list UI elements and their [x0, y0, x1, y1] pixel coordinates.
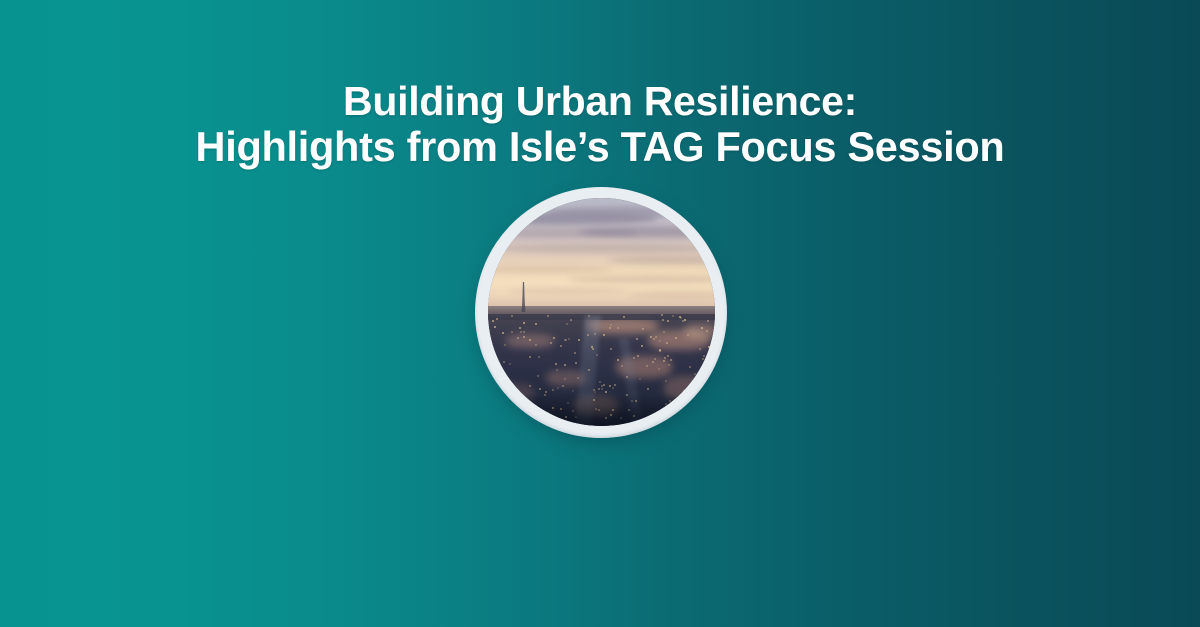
- street-light: [547, 315, 549, 317]
- street-light: [617, 327, 619, 329]
- street-light: [509, 401, 511, 403]
- street-light: [626, 376, 628, 378]
- street-light: [498, 409, 500, 411]
- street-light: [605, 391, 607, 393]
- street-light: [665, 403, 667, 405]
- street-light: [701, 327, 703, 329]
- street-light: [642, 328, 644, 330]
- street-light: [662, 319, 664, 321]
- street-light: [612, 387, 614, 389]
- street-light: [587, 334, 589, 336]
- street-light: [494, 376, 496, 378]
- street-light: [610, 348, 612, 350]
- street-light: [639, 378, 641, 380]
- street-light: [664, 357, 666, 359]
- street-light: [599, 381, 601, 383]
- street-light: [572, 410, 574, 412]
- street-light: [682, 320, 684, 322]
- street-light: [596, 354, 598, 356]
- street-light: [537, 375, 539, 377]
- street-light: [636, 338, 638, 340]
- street-light: [650, 336, 652, 338]
- street-light: [658, 368, 660, 370]
- street-light: [593, 399, 595, 401]
- street-light: [702, 358, 704, 360]
- street-light: [550, 342, 552, 344]
- street-light: [610, 414, 612, 416]
- street-light: [694, 382, 696, 384]
- share-card: Building Urban Resilience: Highlights fr…: [0, 0, 1200, 627]
- street-light: [594, 391, 596, 393]
- street-light: [667, 320, 669, 322]
- featured-image-photo: [488, 198, 715, 426]
- street-light: [693, 414, 695, 416]
- street-light: [666, 342, 668, 344]
- street-light: [552, 407, 554, 409]
- street-light: [529, 385, 531, 387]
- street-light: [696, 393, 698, 395]
- cloud-band: [498, 244, 715, 253]
- title-line-2: Highlights from Isle’s TAG Focus Session: [0, 124, 1200, 170]
- street-light: [661, 314, 663, 316]
- street-light: [689, 366, 691, 368]
- street-light: [566, 323, 568, 325]
- street-light: [592, 348, 594, 350]
- street-light: [552, 389, 554, 391]
- street-light: [588, 369, 590, 371]
- street-light: [511, 331, 513, 333]
- street-light: [492, 371, 494, 373]
- street-light: [703, 355, 705, 357]
- street-light: [502, 380, 504, 382]
- street-light: [578, 339, 580, 341]
- street-light: [512, 410, 514, 412]
- street-light: [568, 338, 570, 340]
- street-light: [501, 393, 503, 395]
- street-light: [620, 417, 622, 419]
- street-light: [535, 344, 537, 346]
- street-light: [575, 362, 577, 364]
- street-light: [562, 385, 564, 387]
- street-light: [633, 415, 635, 417]
- street-light: [637, 355, 639, 357]
- street-light: [529, 339, 531, 341]
- street-light: [517, 337, 519, 339]
- photo-sky: [488, 198, 715, 316]
- street-light: [538, 356, 540, 358]
- street-light: [699, 348, 701, 350]
- street-light: [670, 359, 672, 361]
- street-light: [572, 390, 574, 392]
- street-light: [635, 400, 637, 402]
- street-light: [663, 331, 665, 333]
- street-light: [655, 336, 657, 338]
- street-light: [708, 346, 710, 348]
- street-light: [603, 334, 605, 336]
- street-light: [523, 331, 525, 333]
- street-light: [519, 327, 521, 329]
- street-light: [488, 412, 490, 414]
- cloud-band: [608, 256, 715, 264]
- street-light: [712, 404, 714, 406]
- street-light: [609, 385, 611, 387]
- street-light: [605, 417, 607, 419]
- street-light: [556, 369, 558, 371]
- street-light: [509, 363, 511, 365]
- street-light: [575, 416, 577, 418]
- street-light: [601, 388, 603, 390]
- street-light: [603, 384, 605, 386]
- street-light: [598, 409, 600, 411]
- street-light: [547, 412, 549, 414]
- street-light: [652, 361, 654, 363]
- street-light: [567, 402, 569, 404]
- street-light: [595, 408, 597, 410]
- street-light: [672, 315, 674, 317]
- street-light: [541, 414, 543, 416]
- street-light: [564, 364, 566, 366]
- street-light: [511, 315, 513, 317]
- street-light: [641, 345, 643, 347]
- featured-image: [475, 187, 727, 438]
- street-light: [659, 340, 661, 342]
- street-light: [694, 398, 696, 400]
- street-light: [614, 384, 616, 386]
- street-light: [553, 337, 555, 339]
- street-light: [564, 378, 566, 380]
- street-light: [504, 344, 506, 346]
- street-light: [493, 381, 495, 383]
- street-light: [653, 338, 655, 340]
- street-light: [709, 401, 711, 403]
- street-light: [610, 324, 612, 326]
- street-light: [633, 357, 635, 359]
- street-light: [706, 330, 708, 332]
- street-light: [577, 377, 579, 379]
- street-light: [523, 336, 525, 338]
- street-light: [555, 363, 557, 365]
- street-light: [528, 406, 530, 408]
- street-light: [696, 402, 698, 404]
- street-light: [654, 358, 656, 360]
- street-light: [496, 318, 498, 320]
- street-light: [684, 319, 686, 321]
- street-light: [665, 380, 667, 382]
- street-light: [631, 400, 633, 402]
- street-light: [509, 410, 511, 412]
- street-light: [694, 373, 696, 375]
- street-light: [609, 327, 611, 329]
- street-light: [574, 352, 576, 354]
- street-light: [560, 408, 562, 410]
- street-light: [628, 409, 630, 411]
- street-light: [496, 371, 498, 373]
- street-light: [523, 322, 525, 324]
- street-light: [626, 394, 628, 396]
- street-light: [539, 388, 541, 390]
- street-light: [494, 326, 496, 328]
- street-light: [565, 339, 567, 341]
- street-light: [707, 320, 709, 322]
- street-light: [680, 317, 682, 319]
- street-light: [593, 389, 595, 391]
- street-light: [545, 391, 547, 393]
- cloud-band: [568, 276, 715, 283]
- street-light: [529, 356, 531, 358]
- street-light: [623, 316, 625, 318]
- street-light: [503, 361, 505, 363]
- street-light: [502, 332, 504, 334]
- street-light: [655, 415, 657, 417]
- street-light: [598, 388, 600, 390]
- cloud-band: [628, 292, 715, 298]
- street-light: [544, 394, 546, 396]
- street-light: [492, 320, 494, 322]
- street-light: [669, 400, 671, 402]
- street-light: [646, 365, 648, 367]
- street-light: [617, 359, 619, 361]
- street-light: [501, 388, 503, 390]
- street-light: [668, 364, 670, 366]
- street-light: [520, 331, 522, 333]
- street-light: [683, 390, 685, 392]
- street-light: [594, 333, 596, 335]
- street-light: [667, 355, 669, 357]
- cloud-band: [488, 266, 613, 273]
- street-light: [647, 388, 649, 390]
- street-light: [701, 368, 703, 370]
- page-title: Building Urban Resilience: Highlights fr…: [0, 78, 1200, 170]
- street-light: [675, 337, 677, 339]
- street-light: [687, 404, 689, 406]
- street-light: [687, 334, 689, 336]
- street-light: [698, 392, 700, 394]
- street-light: [665, 413, 667, 415]
- street-light: [535, 323, 537, 325]
- street-light: [659, 349, 661, 351]
- street-light: [560, 345, 562, 347]
- street-light: [621, 365, 623, 367]
- cloud-band: [508, 288, 628, 294]
- street-light: [565, 416, 567, 418]
- street-light: [612, 409, 614, 411]
- title-line-1: Building Urban Resilience:: [0, 78, 1200, 124]
- street-light: [570, 319, 572, 321]
- street-light: [588, 315, 590, 317]
- street-light: [557, 387, 559, 389]
- street-lights: [488, 314, 715, 426]
- street-light: [663, 360, 665, 362]
